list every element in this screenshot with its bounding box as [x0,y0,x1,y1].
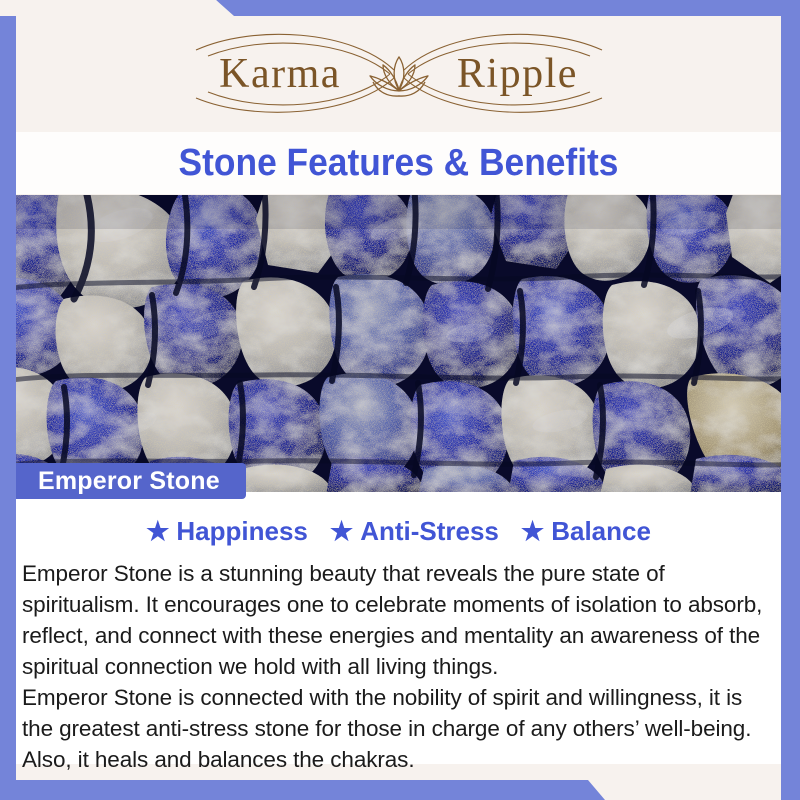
benefit-balance: ★ Balance [521,516,651,547]
benefit-label: Anti-Stress [360,516,499,547]
lotus-flower-icon [362,51,436,99]
brand-word-right: Ripple [457,53,578,95]
brand-logo: Karma Ripple [16,16,781,131]
benefit-label: Happiness [176,516,308,547]
description-paragraph-1: Emperor Stone is a stunning beauty that … [22,558,779,682]
stone-name-badge: Emperor Stone [16,463,246,499]
star-icon: ★ [330,518,353,544]
poster-canvas: Karma Ripple Stone Features & Benefits [16,16,781,780]
benefits-row: ★ Happiness ★ Anti-Stress ★ Balance [16,516,781,547]
benefit-anti-stress: ★ Anti-Stress [330,516,499,547]
description-paragraph-2: Emperor Stone is connected with the nobi… [22,682,779,775]
star-icon: ★ [521,518,544,544]
hero-stone-photo [16,195,781,492]
stone-photo-illustration [16,195,781,492]
benefit-label: Balance [551,516,651,547]
frame-left-bar [0,0,16,800]
benefit-happiness: ★ Happiness [146,516,308,547]
frame-top-left-notch [0,0,234,16]
frame-bottom-bar [0,780,800,800]
description-block: Emperor Stone is a stunning beauty that … [22,558,779,775]
page-title: Stone Features & Benefits [179,142,619,185]
headline-banner: Stone Features & Benefits [16,132,781,194]
frame-right-bar [781,0,800,800]
poster: Karma Ripple Stone Features & Benefits [0,0,800,800]
star-icon: ★ [146,518,169,544]
brand-word-left: Karma [219,53,341,95]
